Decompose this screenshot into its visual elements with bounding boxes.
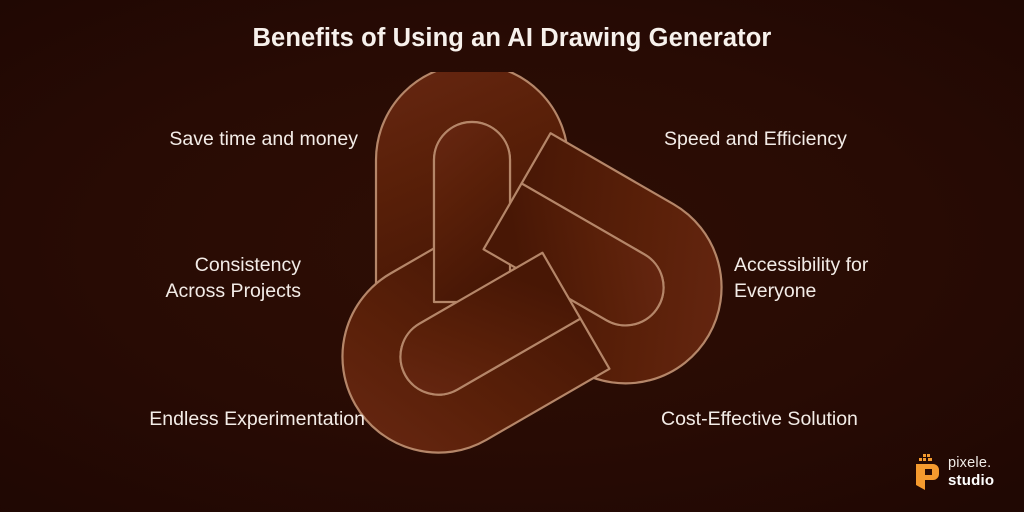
benefit-label-save-time-and-money: Save time and money xyxy=(169,126,358,152)
brand-name-line2: studio xyxy=(948,473,994,488)
brand-name-line1: pixele. xyxy=(948,456,994,471)
benefit-label-endless-experimentation: Endless Experimentation xyxy=(149,406,365,432)
benefit-label-accessibility-for-everyone: Accessibility for Everyone xyxy=(734,252,868,304)
benefit-label-cost-effective-solution: Cost-Effective Solution xyxy=(661,406,858,432)
page-title: Benefits of Using an AI Drawing Generato… xyxy=(0,24,1024,53)
benefit-label-speed-and-efficiency: Speed and Efficiency xyxy=(664,126,847,152)
brand-logo-text: pixele. studio xyxy=(948,456,994,488)
pixelated-p-icon xyxy=(912,453,942,491)
brand-logo: pixele. studio xyxy=(912,450,1012,494)
infographic-canvas: Benefits of Using an AI Drawing Generato… xyxy=(0,0,1024,512)
benefit-label-consistency-across-projects: Consistency Across Projects xyxy=(166,252,301,304)
